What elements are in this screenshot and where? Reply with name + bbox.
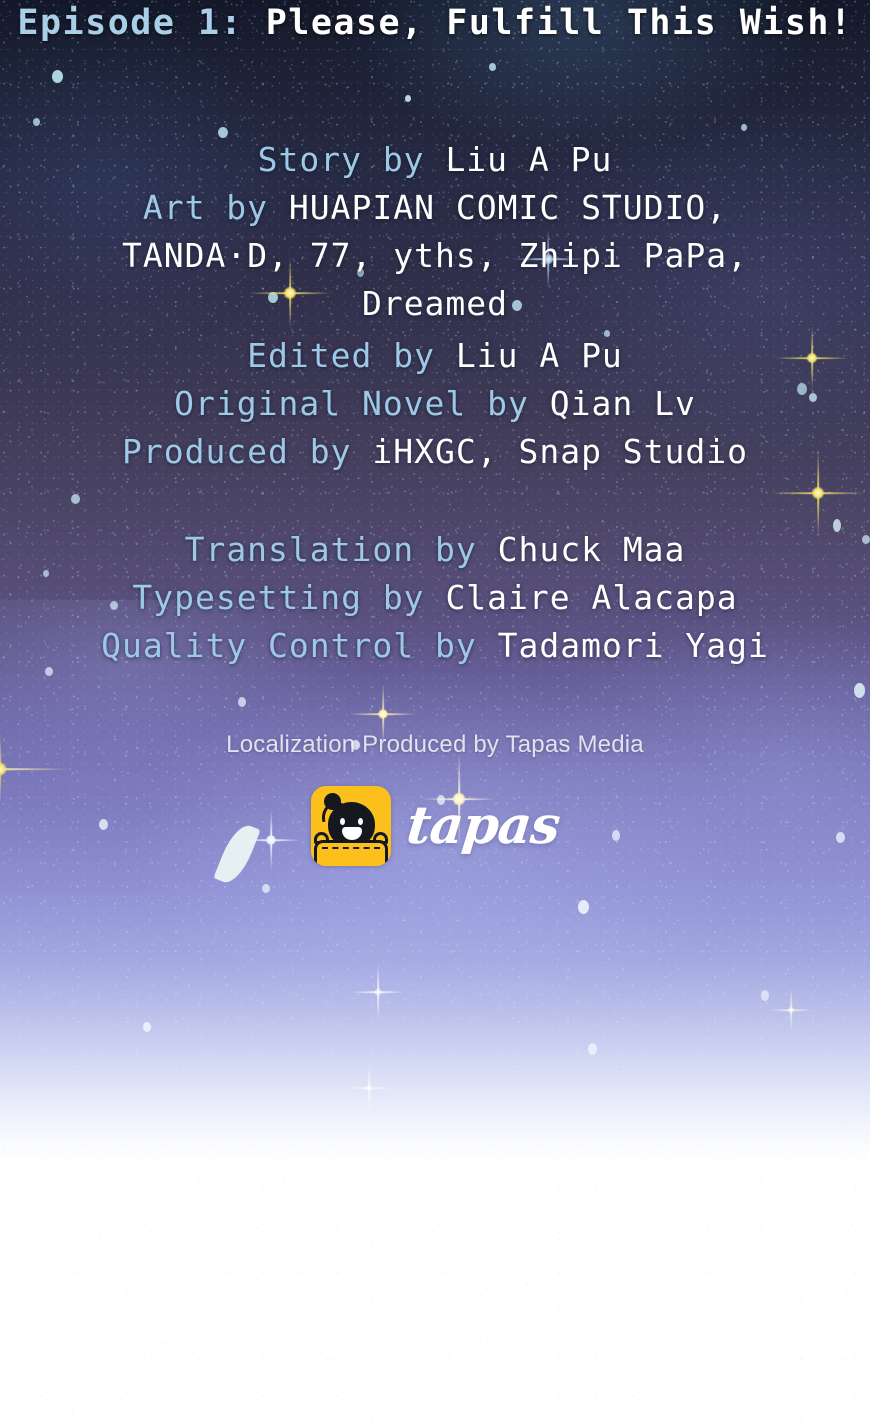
- credit-role: Produced by: [122, 432, 352, 471]
- credit-line: Art by HUAPIAN COMIC STUDIO,: [0, 184, 870, 232]
- credit-line: Story by Liu A Pu: [0, 136, 870, 184]
- credit-role: Story by: [258, 140, 425, 179]
- credit-line: Edited by Liu A Pu: [0, 332, 870, 380]
- credit-line: Quality Control by Tadamori Yagi: [0, 622, 870, 670]
- bokeh-dot: [262, 884, 270, 893]
- credit-names: TANDA·D, 77, yths, Zhipi PaPa,: [122, 236, 748, 275]
- credits-block-production: Story by Liu A Pu Art by HUAPIAN COMIC S…: [0, 136, 870, 328]
- bear-eye-left-icon: [340, 818, 345, 825]
- bear-mouth-icon: [342, 827, 362, 840]
- credit-names: Claire Alacapa: [445, 578, 737, 617]
- bed-stitch-icon: [322, 847, 380, 849]
- episode-title-text: Please, Fulfill This Wish!: [266, 3, 853, 43]
- credit-line: TANDA·D, 77, yths, Zhipi PaPa,: [0, 232, 870, 280]
- credits-block-editorial: Edited by Liu A Pu Original Novel by Qia…: [0, 332, 870, 476]
- credit-names: iHXGC, Snap Studio: [372, 432, 748, 471]
- credit-line: Dreamed: [0, 280, 870, 328]
- credit-role: Art by: [143, 188, 268, 227]
- credit-names: Liu A Pu: [445, 140, 612, 179]
- credit-role: Edited by: [247, 336, 435, 375]
- comic-credits-page: Episode 1: Please, Fulfill This Wish! St…: [0, 0, 870, 1424]
- bokeh-dot: [244, 1166, 252, 1176]
- tapas-logo[interactable]: tapas: [0, 784, 870, 868]
- bokeh-dot: [349, 1140, 356, 1149]
- credit-line: Translation by Chuck Maa: [0, 526, 870, 574]
- episode-title-prefix: Episode 1:: [17, 3, 243, 43]
- bokeh-dot: [741, 124, 747, 131]
- bokeh-dot: [143, 1022, 151, 1032]
- localization-note: Localization Produced by Tapas Media: [0, 731, 870, 759]
- credit-line: Original Novel by Qian Lv: [0, 380, 870, 428]
- bokeh-dot: [588, 1043, 597, 1055]
- bokeh-dot: [489, 63, 496, 71]
- bed-blanket-icon: [314, 840, 388, 866]
- credit-role: Translation by: [185, 530, 477, 569]
- tapas-wordmark[interactable]: tapas: [404, 800, 562, 852]
- credit-names: HUAPIAN COMIC STUDIO,: [289, 188, 727, 227]
- tapas-bear-in-bed-icon[interactable]: [311, 786, 391, 866]
- bokeh-dot: [854, 683, 865, 698]
- credit-names: Liu A Pu: [456, 336, 623, 375]
- bokeh-dot: [761, 990, 769, 1001]
- bokeh-dot: [238, 697, 246, 707]
- bokeh-dot: [71, 494, 80, 504]
- credit-names: Tadamori Yagi: [498, 626, 769, 665]
- credits-block-localization: Translation by Chuck Maa Typesetting by …: [0, 526, 870, 670]
- credit-line: Typesetting by Claire Alacapa: [0, 574, 870, 622]
- bokeh-dot: [405, 95, 411, 102]
- credit-role: Typesetting by: [132, 578, 424, 617]
- credit-line: Produced by iHXGC, Snap Studio: [0, 428, 870, 476]
- bokeh-dot: [33, 118, 40, 126]
- bear-eye-right-icon: [358, 818, 363, 825]
- credit-names: Chuck Maa: [498, 530, 686, 569]
- credit-role: Original Novel by: [174, 384, 529, 423]
- background-glow-bottom: [0, 600, 870, 1220]
- bokeh-dot: [52, 70, 63, 83]
- credit-role: Quality Control by: [101, 626, 477, 665]
- bokeh-dot: [578, 900, 589, 914]
- credit-names: Qian Lv: [550, 384, 696, 423]
- credit-names: Dreamed: [362, 284, 508, 323]
- episode-title: Episode 1: Please, Fulfill This Wish!: [0, 2, 870, 44]
